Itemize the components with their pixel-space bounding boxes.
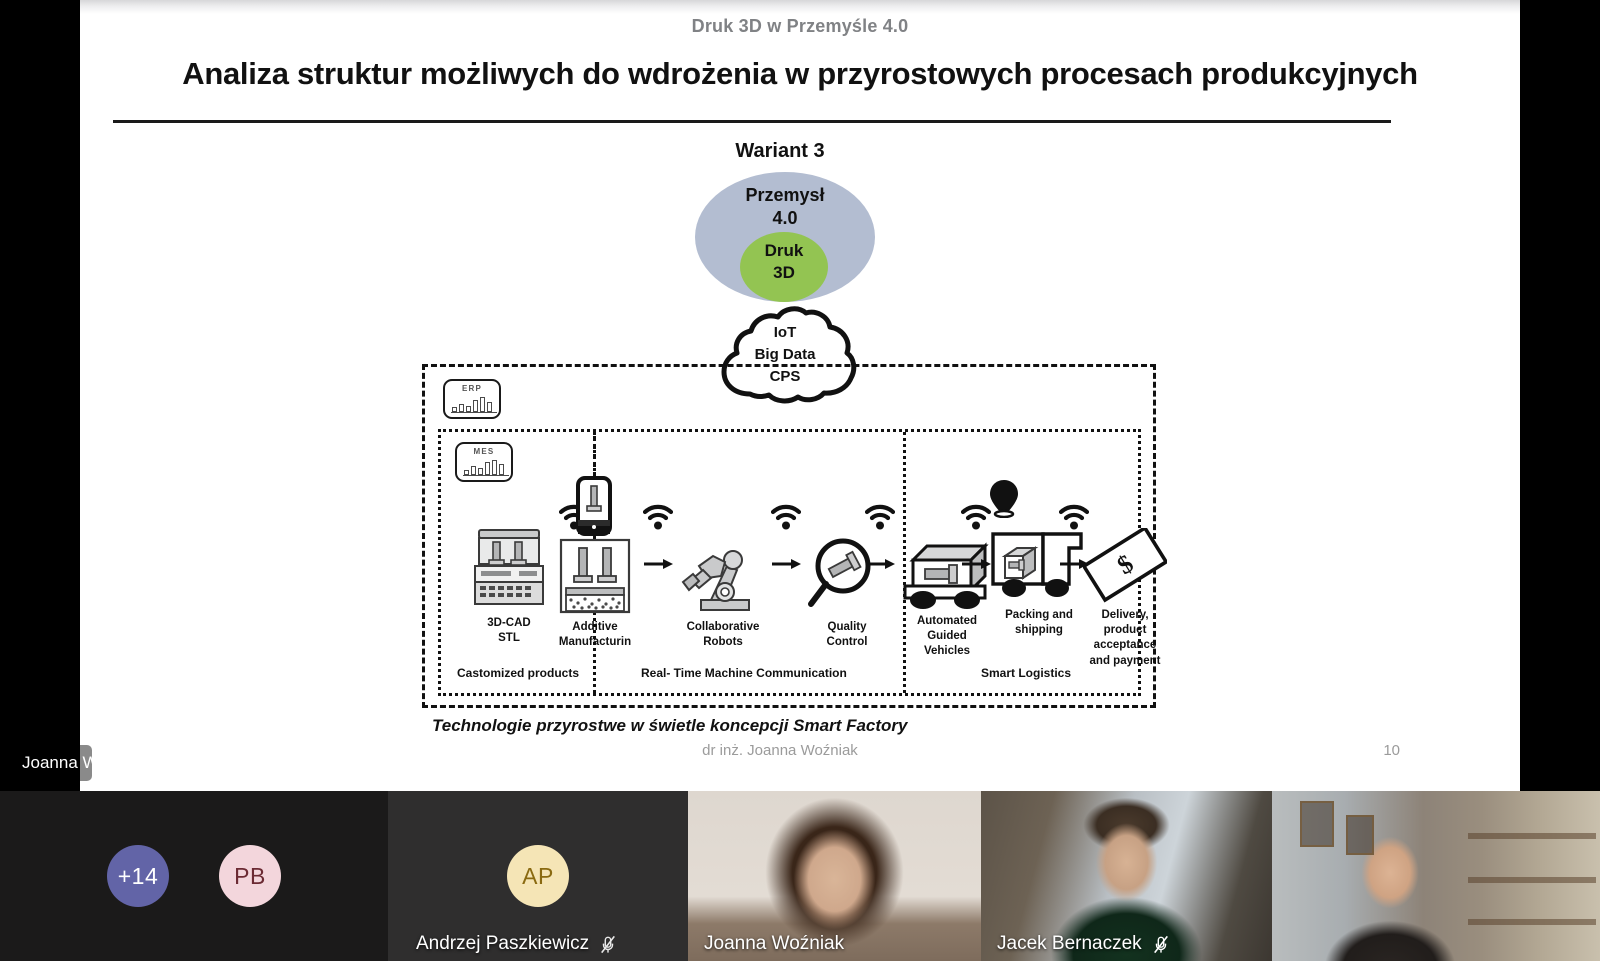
presentation-slide: Druk 3D w Przemyśle 4.0 Analiza struktur… bbox=[80, 0, 1520, 791]
meeting-stage: Druk 3D w Przemyśle 4.0 Analiza struktur… bbox=[0, 0, 1600, 961]
cloud-line-bigdata: Big Data bbox=[710, 344, 860, 366]
erp-label: ERP bbox=[445, 384, 499, 393]
title-divider bbox=[113, 120, 1391, 123]
screen-share-area: Druk 3D w Przemyśle 4.0 Analiza struktur… bbox=[0, 0, 1600, 791]
mic-muted-icon bbox=[1152, 934, 1170, 955]
zone-label-smart-logistics: Smart Logistics bbox=[981, 666, 1071, 680]
station-quality-control-label: Quality Control bbox=[827, 620, 868, 650]
mes-baseline bbox=[463, 475, 509, 477]
participant-name-joanna-wozniak: Joanna Woźniak bbox=[704, 933, 844, 955]
erp-system-icon: ERP bbox=[443, 379, 501, 419]
slide-header: Druk 3D w Przemyśle 4.0 bbox=[80, 16, 1520, 37]
industry40-label: Przemysł 4.0 bbox=[695, 184, 875, 230]
wifi-icon-4 bbox=[865, 504, 895, 530]
station-collaborative-robots-label: Collaborative Robots bbox=[687, 620, 760, 650]
smart-factory-outer-boundary: ERP MES bbox=[422, 364, 1156, 708]
avatar-ap[interactable]: AP bbox=[507, 845, 569, 907]
zone-label-realtime-communication: Real- Time Machine Communication bbox=[641, 666, 847, 680]
bookshelf-row-3 bbox=[1468, 919, 1596, 925]
station-quality-control: Quality Control bbox=[807, 536, 887, 646]
wall-frame-2 bbox=[1346, 815, 1374, 855]
avatar-pb[interactable]: PB bbox=[219, 845, 281, 907]
bookshelf-row-2 bbox=[1468, 877, 1596, 883]
station-additive-manufacturing: Additive Manufacturin bbox=[553, 538, 637, 648]
slide-footer-author: dr inż. Joanna Woźniak bbox=[80, 742, 1480, 759]
mes-system-icon: MES bbox=[455, 442, 513, 482]
mic-muted-icon bbox=[599, 934, 617, 955]
figure-caption: Technologie przyrostwe w świetle koncepc… bbox=[432, 716, 1132, 736]
wifi-icon-3 bbox=[771, 504, 801, 530]
cloud-line-iot: IoT bbox=[710, 322, 860, 344]
collaborative-robot-icon bbox=[677, 536, 769, 616]
druk3d-circle: Druk 3D bbox=[740, 232, 828, 302]
erp-bars bbox=[452, 393, 496, 412]
station-packing-shipping: Packing and shipping bbox=[989, 526, 1089, 636]
participant-name-andrzej-paszkiewicz: Andrzej Paszkiewicz bbox=[416, 933, 617, 955]
station-delivery-payment: $ Delivery, product acceptance and payme… bbox=[1081, 528, 1169, 658]
slide-page-number: 10 bbox=[1383, 742, 1400, 759]
participant-tile-joanna-wozniak[interactable]: Joanna Woźniak bbox=[688, 791, 981, 961]
participant-name-text: Andrzej Paszkiewicz bbox=[416, 933, 589, 955]
variant-label: Wariant 3 bbox=[80, 140, 1480, 163]
magnifier-quality-icon bbox=[807, 536, 887, 616]
zone-label-customized-products: Castomized products bbox=[457, 666, 579, 680]
participant-name-text: Jacek Bernaczek bbox=[997, 933, 1142, 955]
smartphone-icon bbox=[576, 476, 612, 536]
arrow-icon-4 bbox=[865, 558, 895, 570]
3d-printer-cad-icon bbox=[463, 522, 555, 614]
slide-top-fade bbox=[80, 0, 1520, 14]
participant-name-jacek-bernaczek: Jacek Bernaczek bbox=[997, 933, 1170, 955]
mes-bars bbox=[464, 456, 508, 475]
participant-tile-5[interactable] bbox=[1272, 791, 1600, 961]
station-additive-manufacturing-label: Additive Manufacturin bbox=[559, 620, 631, 650]
station-agv: Automated Guided Vehicles bbox=[899, 524, 995, 644]
smart-factory-inner-boundary: MES bbox=[438, 429, 1141, 696]
overflow-avatar-group: +14 PB bbox=[0, 791, 388, 961]
slide-title: Analiza struktur możliwych do wdrożenia … bbox=[115, 56, 1485, 92]
bookshelf-row-1 bbox=[1468, 833, 1596, 839]
wifi-icon-5 bbox=[961, 504, 991, 530]
presenter-name-text: Joanna Woźniak bbox=[22, 753, 147, 773]
payment-banknote-icon: $ bbox=[1083, 528, 1167, 606]
druk3d-label-line1: Druk bbox=[740, 240, 828, 262]
station-3d-cad-stl: 3D-CAD STL bbox=[463, 522, 555, 632]
station-3d-cad-stl-label: 3D-CAD STL bbox=[487, 616, 530, 646]
druk3d-label: Druk 3D bbox=[740, 240, 828, 284]
station-agv-label: Automated Guided Vehicles bbox=[917, 614, 977, 660]
location-pin-icon bbox=[989, 478, 1019, 518]
station-delivery-payment-label: Delivery, product acceptance and payment bbox=[1090, 608, 1161, 669]
arrow-icon-5 bbox=[961, 558, 991, 570]
mes-label: MES bbox=[457, 447, 511, 456]
arrow-icon-3 bbox=[771, 558, 801, 570]
wifi-icon-6 bbox=[1059, 504, 1089, 530]
arrow-icon-2 bbox=[643, 558, 673, 570]
wall-frame-1 bbox=[1300, 801, 1334, 847]
station-packing-shipping-label: Packing and shipping bbox=[1005, 608, 1073, 638]
industry40-label-line1: Przemysł bbox=[695, 184, 875, 207]
avatar-overflow-count[interactable]: +14 bbox=[107, 845, 169, 907]
participant-name-text: Joanna Woźniak bbox=[704, 933, 844, 955]
participant-tile-jacek-bernaczek[interactable]: Jacek Bernaczek bbox=[981, 791, 1272, 961]
participant-tile-andrzej-paszkiewicz[interactable]: AP Andrzej Paszkiewicz bbox=[388, 791, 688, 961]
presenter-name-badge: Joanna Woźniak bbox=[80, 745, 92, 781]
participant-tile-overflow[interactable]: +14 PB bbox=[0, 791, 388, 961]
industry40-label-line2: 4.0 bbox=[695, 207, 875, 230]
druk3d-label-line2: 3D bbox=[740, 262, 828, 284]
video-feed-participant-5 bbox=[1272, 791, 1600, 961]
wifi-icon-2 bbox=[643, 504, 673, 530]
participant-filmstrip: +14 PB AP Andrzej Paszkiewicz bbox=[0, 791, 1600, 961]
station-collaborative-robots: Collaborative Robots bbox=[677, 536, 769, 646]
additive-manufacturing-icon bbox=[553, 538, 637, 616]
erp-baseline bbox=[451, 412, 497, 414]
